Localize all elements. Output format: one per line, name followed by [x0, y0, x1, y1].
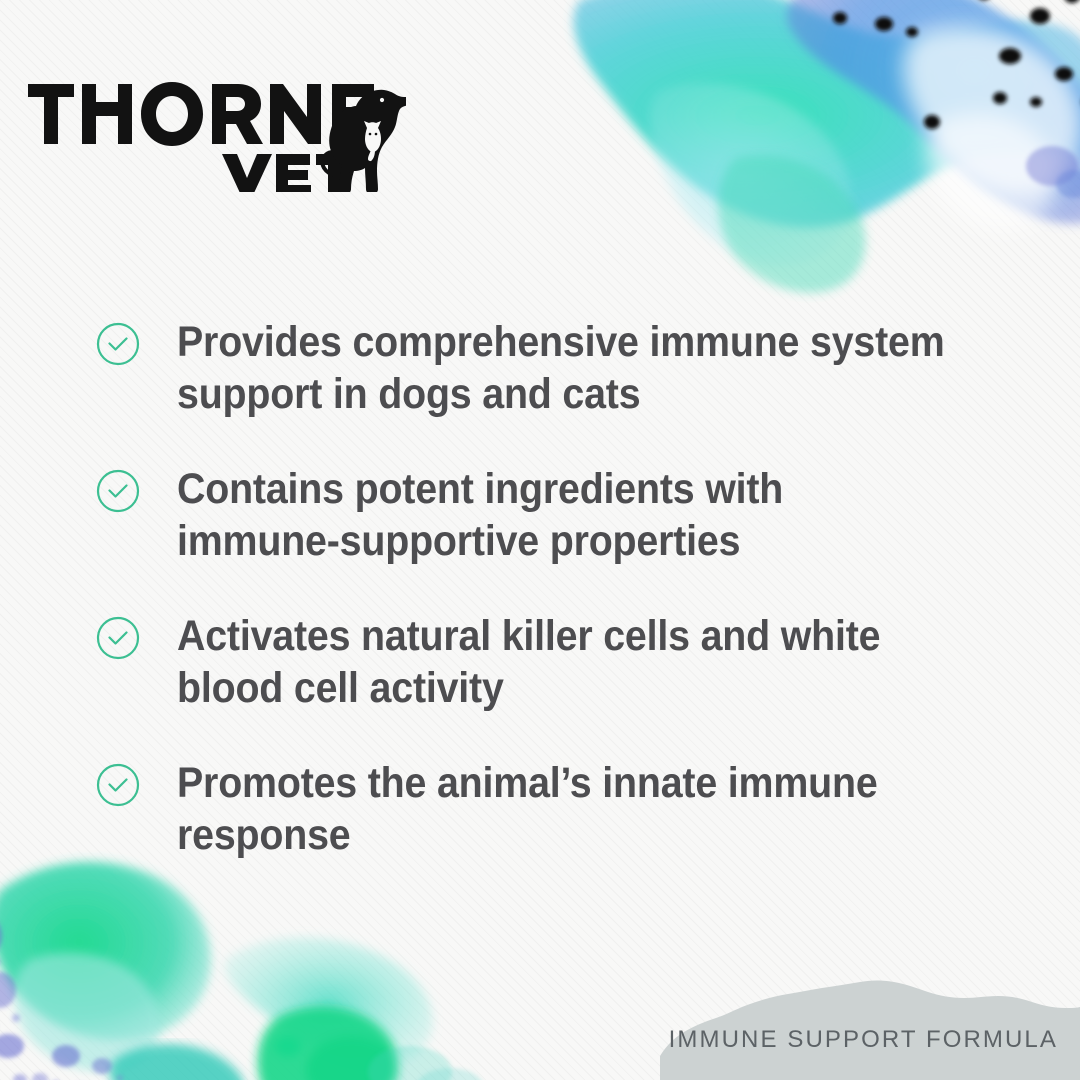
check-circle-icon [96, 469, 140, 513]
benefit-text: Promotes the animal’s innate immune resp… [177, 757, 972, 862]
benefit-text: Activates natural killer cells and white… [177, 610, 880, 715]
benefit-text: Provides comprehensive immune system sup… [177, 316, 945, 421]
benefit-item: Activates natural killer cells and white… [96, 610, 1046, 715]
thorne-vet-logo [26, 62, 406, 192]
promo-graphic: Provides comprehensive immune system sup… [0, 0, 1080, 1080]
footer-banner: IMMUNE SUPPORT FORMULA [660, 960, 1080, 1080]
footer-label: IMMUNE SUPPORT FORMULA [669, 1026, 1058, 1054]
check-circle-icon [96, 763, 140, 807]
watercolor-splash-top-right [540, 0, 1080, 310]
logo-wordmark-thorne [28, 82, 375, 146]
watercolor-splash-bottom-left [0, 840, 510, 1080]
benefit-item: Promotes the animal’s innate immune resp… [96, 757, 1046, 862]
benefits-list: Provides comprehensive immune system sup… [96, 316, 1046, 862]
benefit-text: Contains potent ingredients with immune-… [177, 463, 783, 568]
benefit-item: Contains potent ingredients with immune-… [96, 463, 1046, 568]
logo-wordmark-vet [222, 154, 354, 192]
check-circle-icon [96, 322, 140, 366]
check-circle-icon [96, 616, 140, 660]
benefit-item: Provides comprehensive immune system sup… [96, 316, 1046, 421]
